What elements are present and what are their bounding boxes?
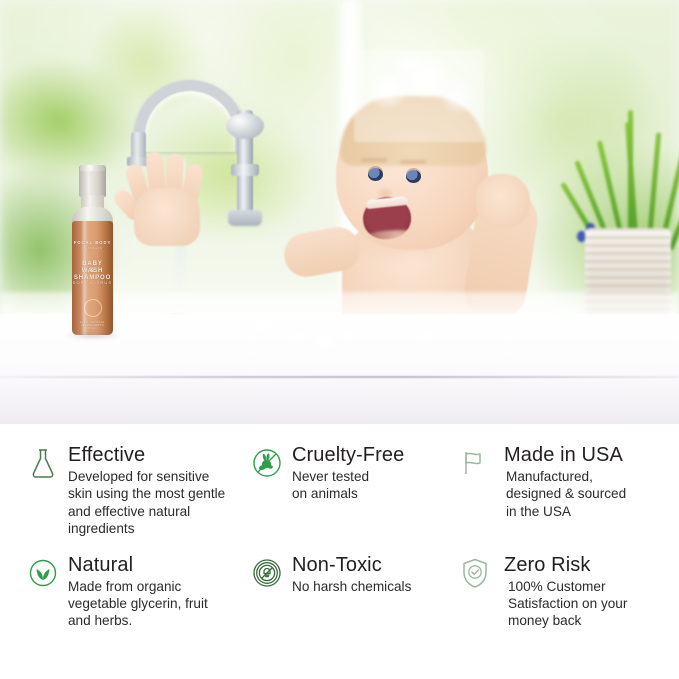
leaf-circle-icon <box>26 556 60 590</box>
baby-eye-right <box>406 170 421 183</box>
benefits-panel: Effective Developed for sensitive skin u… <box>0 424 679 679</box>
benefit-title: Effective <box>68 444 225 466</box>
baby-eyebrow-left <box>361 158 387 162</box>
benefit-title: Non-Toxic <box>292 554 411 576</box>
product-feature-image: FOCAL BODY NATURALS BABY WASH & SHAMPOO … <box>0 0 679 679</box>
benefit-item-cruelty-free: Cruelty-Free Never tested on animals <box>250 444 458 538</box>
benefit-body: No harsh chemicals <box>292 578 411 595</box>
soap-foam-on-head <box>354 50 484 142</box>
benefit-body: Manufactured, designed & sourced in the … <box>504 468 626 520</box>
benefit-body: Developed for sensitive skin using the m… <box>68 468 225 538</box>
faucet-collar <box>231 164 259 176</box>
bottle-label: FOCAL BODY NATURALS BABY WASH & SHAMPOO … <box>72 221 113 335</box>
faucet-base <box>228 210 262 226</box>
bottle-pump-top <box>80 165 105 171</box>
bottle-scent: SOFT CITRUS <box>72 281 113 286</box>
bottle-seal-badge <box>84 299 102 317</box>
lifestyle-photo: FOCAL BODY NATURALS BABY WASH & SHAMPOO … <box>0 0 679 424</box>
baby-right-hand <box>476 174 530 228</box>
product-bottle: FOCAL BODY NATURALS BABY WASH & SHAMPOO … <box>68 165 118 335</box>
benefit-body: Never tested on animals <box>292 468 404 503</box>
benefit-item-natural: Natural Made from organic vegetable glyc… <box>26 554 250 630</box>
benefit-title: Zero Risk <box>504 554 627 576</box>
rabbit-no-test-icon <box>250 446 284 480</box>
benefit-body: Made from organic vegetable glycerin, fr… <box>68 578 208 630</box>
benefits-grid: Effective Developed for sensitive skin u… <box>26 444 658 630</box>
potted-plant <box>559 120 679 320</box>
benefit-title: Made in USA <box>504 444 626 466</box>
benefit-title: Natural <box>68 554 208 576</box>
benefit-item-effective: Effective Developed for sensitive skin u… <box>26 444 250 538</box>
baby-raised-hand <box>120 136 212 246</box>
bottle-brand-sub: NATURALS <box>72 248 113 251</box>
benefit-item-non-toxic: Non-Toxic No harsh chemicals <box>250 554 458 630</box>
bottle-shadow <box>64 331 122 340</box>
flask-icon <box>26 446 60 480</box>
baby-eye-left <box>368 168 383 181</box>
flag-icon <box>458 446 492 480</box>
baby-eyebrow-right <box>400 160 426 164</box>
benefit-item-made-in-usa: Made in USA Manufactured, designed & sou… <box>458 444 658 538</box>
non-toxic-icon <box>250 556 284 590</box>
bottle-size: 6 oz <box>72 327 113 330</box>
benefit-item-zero-risk: Zero Risk 100% Customer Satisfaction on … <box>458 554 658 630</box>
shield-check-icon <box>458 556 492 590</box>
benefit-title: Cruelty-Free <box>292 444 404 466</box>
baby-nose <box>376 186 394 197</box>
faucet-handle <box>226 113 264 139</box>
benefit-body: 100% Customer Satisfaction on your money… <box>504 578 627 630</box>
bottle-brand-name: FOCAL BODY <box>72 241 113 246</box>
baby-chin <box>352 230 446 264</box>
